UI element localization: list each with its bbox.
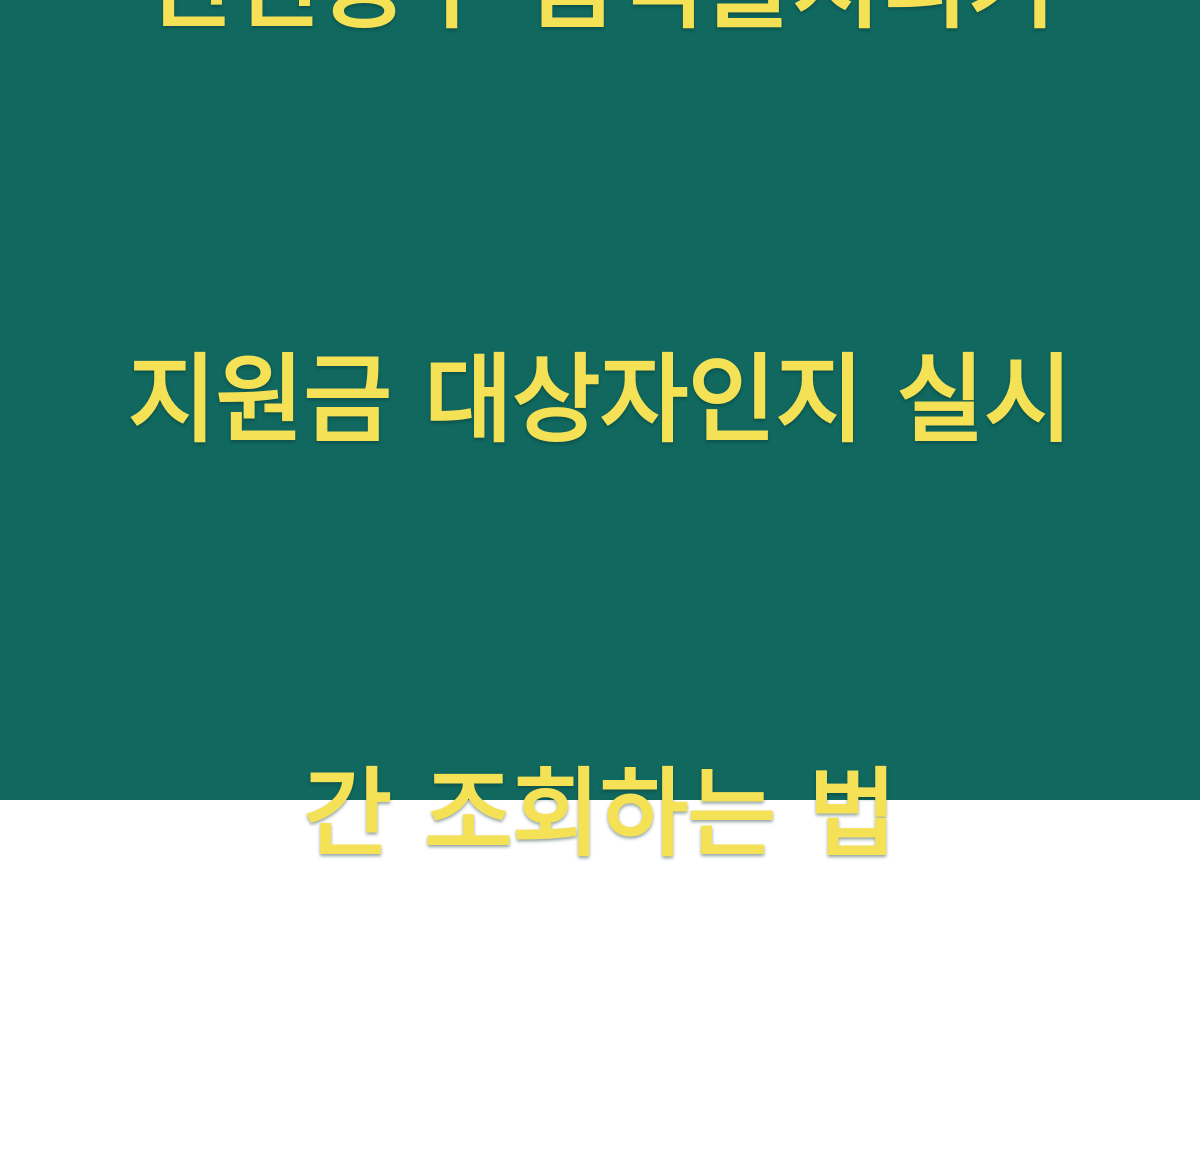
headline-line-3: 간 조회하는 법 [95, 745, 1105, 883]
headline-line-2: 지원금 대상자인지 실시 [95, 331, 1105, 469]
headline-line-1: 인천동구 음식물처리기 [95, 0, 1105, 55]
headline-text-block: 인천동구 음식물처리기 지원금 대상자인지 실시 간 조회하는 법 [95, 0, 1105, 1159]
thumbnail-banner: 인천동구 음식물처리기 지원금 대상자인지 실시 간 조회하는 법 [0, 0, 1200, 800]
